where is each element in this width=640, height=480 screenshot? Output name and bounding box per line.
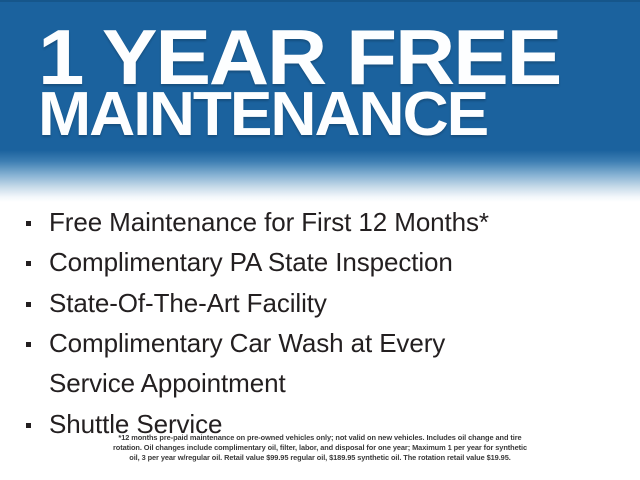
square-bullet-icon xyxy=(26,261,31,266)
feature-label: Complimentary Car Wash at Every xyxy=(49,326,640,360)
feature-label: Service Appointment xyxy=(49,366,640,400)
list-item: Complimentary PA State Inspection xyxy=(0,245,640,279)
list-item: Complimentary Car Wash at Every xyxy=(0,326,640,360)
disclaimer-text: *12 months pre-paid maintenance on pre-o… xyxy=(40,433,600,463)
feature-label: Free Maintenance for First 12 Months* xyxy=(49,205,640,239)
square-bullet-icon xyxy=(26,342,31,347)
bullet-spacer xyxy=(26,382,31,387)
headline-banner: 1 YEAR FREE MAINTENANCE xyxy=(0,0,640,158)
list-item: Free Maintenance for First 12 Months* xyxy=(0,205,640,239)
feature-label: State-Of-The-Art Facility xyxy=(49,286,640,320)
square-bullet-icon xyxy=(26,302,31,307)
feature-label: Complimentary PA State Inspection xyxy=(49,245,640,279)
square-bullet-icon xyxy=(26,423,31,428)
disclaimer-line: *12 months pre-paid maintenance on pre-o… xyxy=(40,433,600,443)
disclaimer-line: oil, 3 per year w/regular oil. Retail va… xyxy=(40,453,600,463)
list-item-continuation: Service Appointment xyxy=(0,366,640,400)
promo-card: 1 YEAR FREE MAINTENANCE Free Maintenance… xyxy=(0,0,640,480)
feature-list: Free Maintenance for First 12 Months* Co… xyxy=(0,205,640,447)
square-bullet-icon xyxy=(26,221,31,226)
list-item: State-Of-The-Art Facility xyxy=(0,286,640,320)
headline-line-2: MAINTENANCE xyxy=(38,84,487,146)
banner-gradient-fade xyxy=(0,150,640,202)
disclaimer-line: rotation. Oil changes include compliment… xyxy=(40,443,600,453)
